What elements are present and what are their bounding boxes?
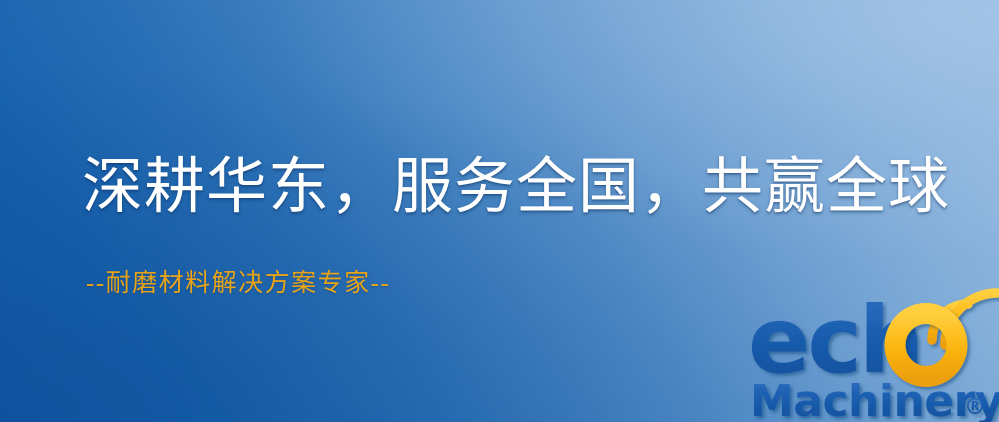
logo-wordmark-accent-letter (895, 314, 957, 377)
echo-machinery-logo: ech Machinery ® (748, 292, 999, 422)
logo-registered-mark: ® (964, 395, 986, 420)
logo-subword: Machinery (750, 376, 999, 422)
promotional-banner: 深耕华东，服务全国，共赢全球 --耐磨材料解决方案专家-- (0, 0, 999, 422)
banner-headline: 深耕华东，服务全国，共赢全球 (82, 152, 950, 224)
banner-subheadline: --耐磨材料解决方案专家-- (86, 268, 390, 300)
